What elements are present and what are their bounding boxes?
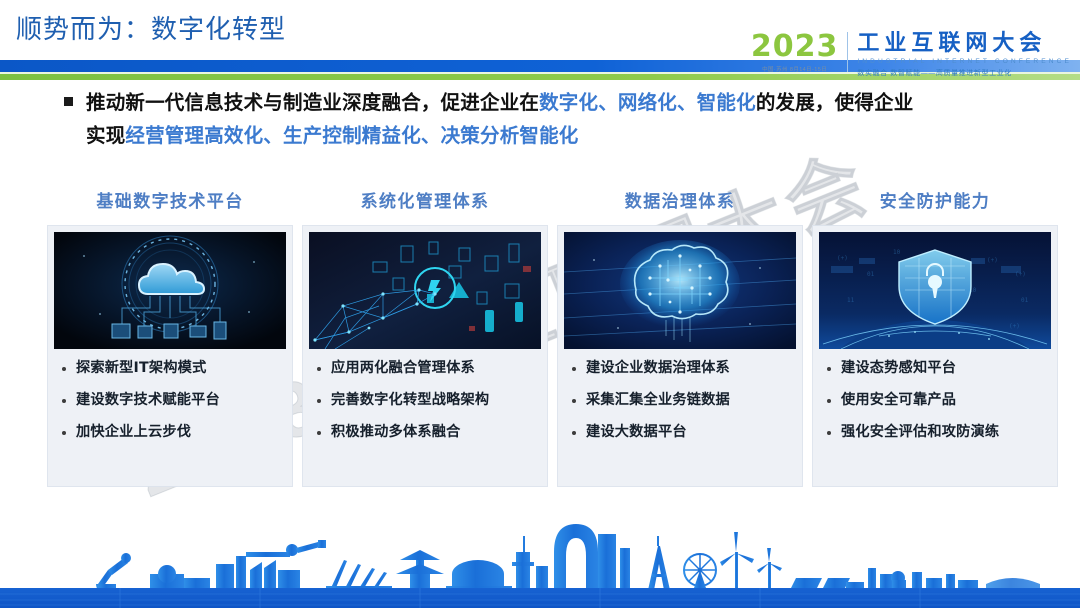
bullet-square-icon bbox=[64, 97, 73, 106]
svg-text:11: 11 bbox=[847, 297, 855, 304]
column-bullet-list: 建设态势感知平台 使用安全可靠产品 强化安全评估和攻防演练 bbox=[813, 358, 1057, 454]
lead-highlight-2: 经营管理高效化、生产控制精益化、决策分析智能化 bbox=[125, 124, 578, 147]
column-panel: 建设企业数据治理体系 采集汇集全业务链数据 建设大数据平台 bbox=[558, 226, 802, 486]
bullet-dot-icon bbox=[62, 399, 66, 403]
logo-slogan: 数实融合 数智赋能——高质量推进新型工业化 bbox=[857, 68, 1072, 78]
slide-canvas: 2023工业互联网大会 顺势而为：数字化转型 2023 中国·苏州 8月14日-… bbox=[0, 0, 1080, 608]
wireframe-hand-interface-image bbox=[309, 232, 541, 349]
bullet-dot-icon bbox=[317, 399, 321, 403]
column-heading: 系统化管理体系 bbox=[303, 190, 547, 226]
bullet-dot-icon bbox=[62, 367, 66, 371]
svg-text:10: 10 bbox=[893, 249, 901, 256]
list-item: 积极推动多体系融合 bbox=[303, 422, 547, 443]
lead-text-b: 的发展，使得企业 bbox=[756, 91, 914, 114]
bullet-dot-icon bbox=[827, 399, 831, 403]
list-item: 完善数字化转型战略架构 bbox=[303, 390, 547, 411]
svg-text:(+): (+) bbox=[987, 257, 998, 264]
capability-columns: 基础数字技术平台 bbox=[0, 190, 1080, 500]
svg-text:(+): (+) bbox=[837, 255, 848, 262]
list-item: 强化安全评估和攻防演练 bbox=[813, 422, 1057, 443]
logo-name-en: INDUSTRIAL INTERNET CONFERENCE bbox=[857, 58, 1072, 65]
column-panel: 应用两化融合管理体系 完善数字化转型战略架构 积极推动多体系融合 bbox=[303, 226, 547, 486]
svg-text:(+): (+) bbox=[1009, 323, 1020, 330]
list-item: 探索新型IT架构模式 bbox=[48, 358, 292, 379]
bullet-dot-icon bbox=[827, 431, 831, 435]
logo-text-block: 工业互联网大会 INDUSTRIAL INTERNET CONFERENCE 数… bbox=[857, 32, 1072, 78]
security-shield-globe-image: (+)0110 (+)(+)10 1101(+) bbox=[819, 232, 1051, 349]
list-item: 建设大数据平台 bbox=[558, 422, 802, 443]
column-panel: 探索新型IT架构模式 建设数字技术赋能平台 加快企业上云步伐 bbox=[48, 226, 292, 486]
column-heading: 基础数字技术平台 bbox=[48, 190, 292, 226]
bullet-dot-icon bbox=[317, 431, 321, 435]
column-data-governance: 数据治理体系 bbox=[558, 190, 802, 486]
column-management-system: 系统化管理体系 bbox=[303, 190, 547, 486]
svg-text:01: 01 bbox=[867, 271, 875, 278]
column-foundation-platform: 基础数字技术平台 bbox=[48, 190, 292, 486]
list-item: 建设企业数据治理体系 bbox=[558, 358, 802, 379]
lead-text-a: 推动新一代信息技术与制造业深度融合，促进企业在 bbox=[86, 91, 539, 114]
column-heading: 安全防护能力 bbox=[813, 190, 1057, 226]
cloud-computing-image bbox=[54, 232, 286, 349]
lead-line-1: 推动新一代信息技术与制造业深度融合，促进企业在数字化、网络化、智能化的发展，使得… bbox=[86, 86, 913, 119]
logo-year-block: 2023 中国·苏州 8月14日-15日 bbox=[751, 32, 848, 73]
list-item: 建设态势感知平台 bbox=[813, 358, 1057, 379]
list-item: 应用两化融合管理体系 bbox=[303, 358, 547, 379]
conference-logo: 2023 中国·苏州 8月14日-15日 工业互联网大会 INDUSTRIAL … bbox=[751, 32, 1072, 78]
column-bullet-list: 建设企业数据治理体系 采集汇集全业务链数据 建设大数据平台 bbox=[558, 358, 802, 454]
lead-text-c: 实现 bbox=[86, 124, 125, 147]
list-item: 使用安全可靠产品 bbox=[813, 390, 1057, 411]
list-item: 建设数字技术赋能平台 bbox=[48, 390, 292, 411]
bullet-dot-icon bbox=[572, 399, 576, 403]
list-item: 采集汇集全业务链数据 bbox=[558, 390, 802, 411]
column-security-capability: 安全防护能力 bbox=[813, 190, 1057, 486]
logo-year: 2023 bbox=[751, 32, 839, 62]
list-item: 加快企业上云步伐 bbox=[48, 422, 292, 443]
bullet-dot-icon bbox=[572, 367, 576, 371]
logo-divider bbox=[847, 32, 848, 72]
lead-paragraph: 推动新一代信息技术与制造业深度融合，促进企业在数字化、网络化、智能化的发展，使得… bbox=[64, 86, 1054, 152]
digital-brain-image bbox=[564, 232, 796, 349]
bullet-dot-icon bbox=[62, 431, 66, 435]
bullet-dot-icon bbox=[572, 431, 576, 435]
svg-text:01: 01 bbox=[1021, 297, 1029, 304]
page-title: 顺势而为：数字化转型 bbox=[16, 9, 286, 46]
column-heading: 数据治理体系 bbox=[558, 190, 802, 226]
industrial-city-skyline-silhouette bbox=[0, 508, 1080, 608]
bullet-dot-icon bbox=[317, 367, 321, 371]
column-bullet-list: 探索新型IT架构模式 建设数字技术赋能平台 加快企业上云步伐 bbox=[48, 358, 292, 454]
lead-highlight-1: 数字化、网络化、智能化 bbox=[539, 91, 756, 114]
column-panel: (+)0110 (+)(+)10 1101(+) bbox=[813, 226, 1057, 486]
column-bullet-list: 应用两化融合管理体系 完善数字化转型战略架构 积极推动多体系融合 bbox=[303, 358, 547, 454]
logo-name-cn: 工业互联网大会 bbox=[857, 32, 1072, 56]
lead-line-2: 实现经营管理高效化、生产控制精益化、决策分析智能化 bbox=[86, 119, 1054, 152]
logo-city-date: 中国·苏州 8月14日-15日 bbox=[762, 65, 827, 73]
bullet-dot-icon bbox=[827, 367, 831, 371]
